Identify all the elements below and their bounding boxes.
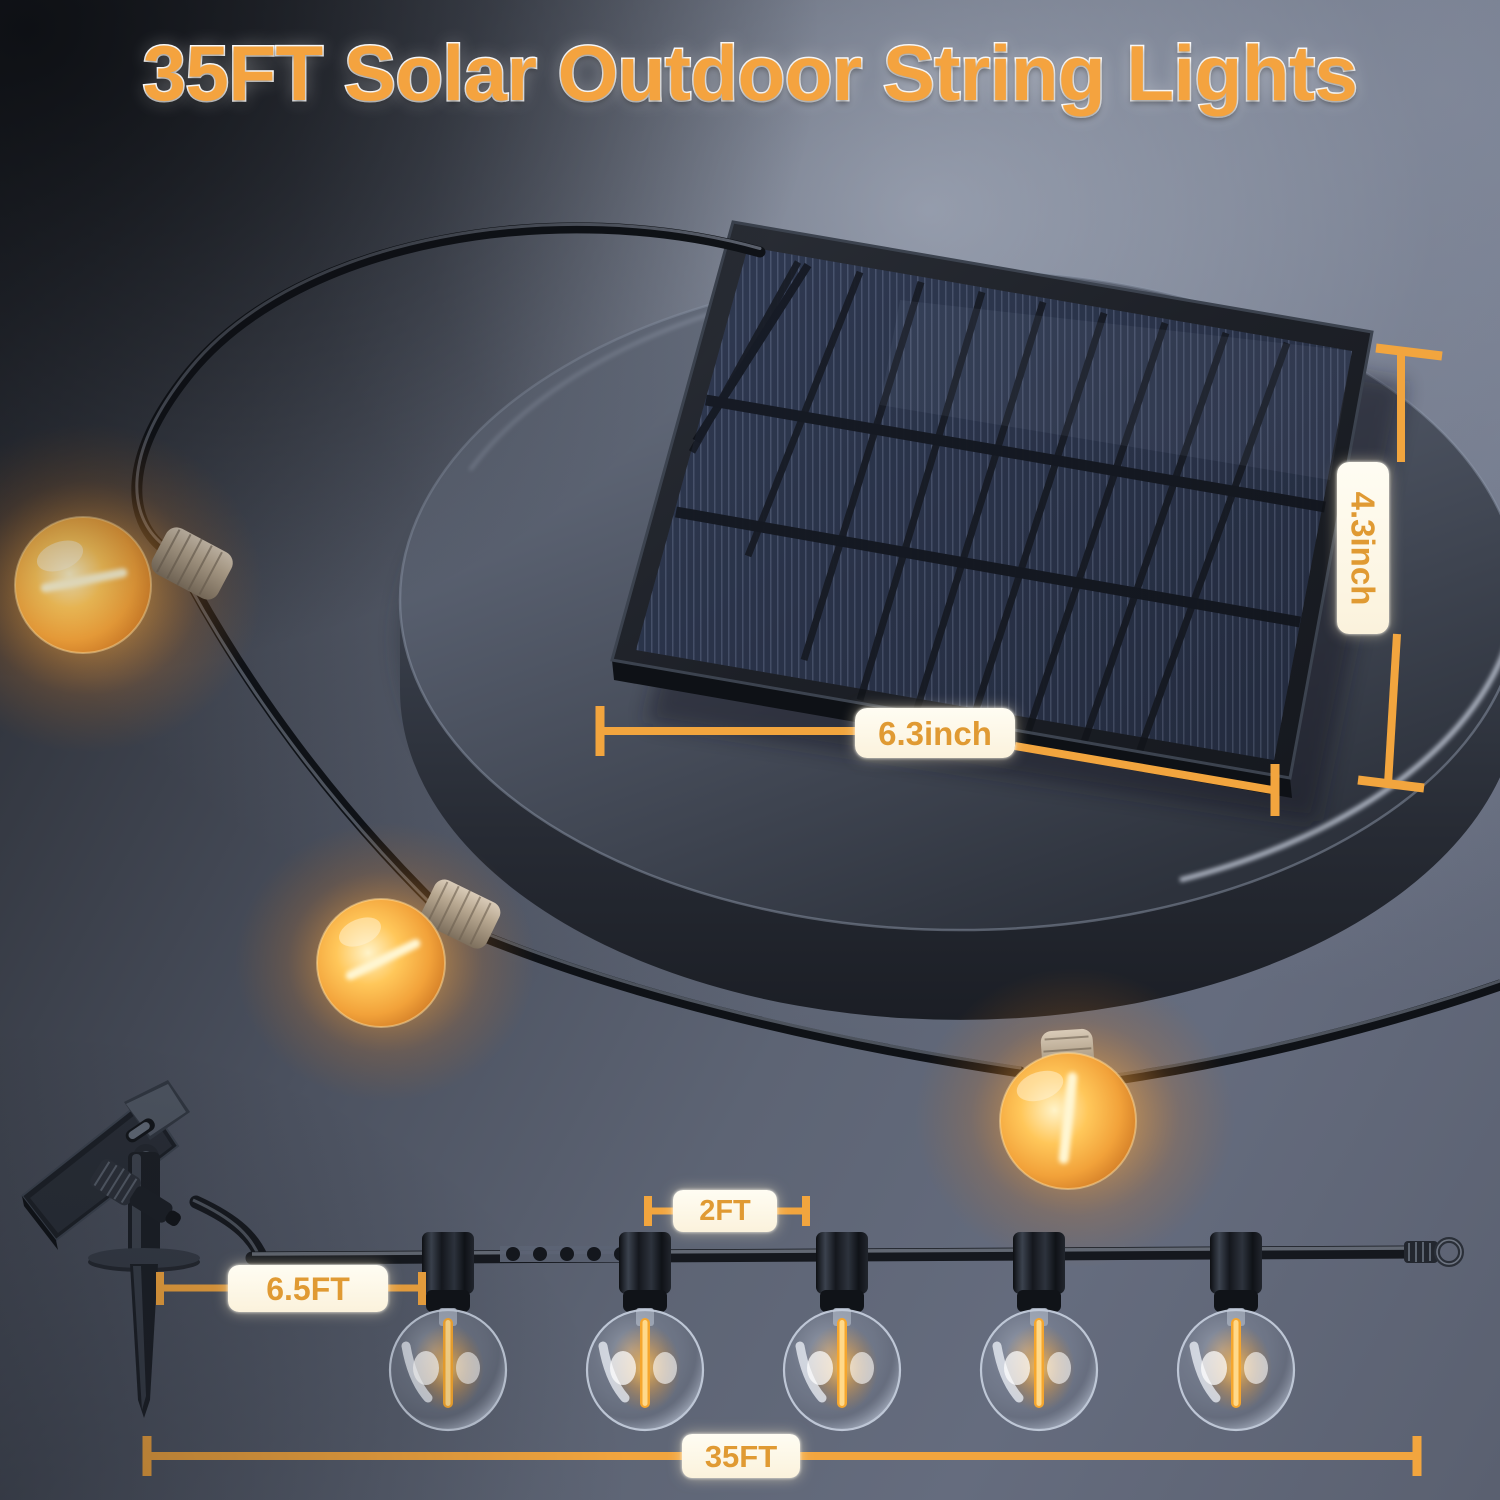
dimension-label-panel-width-text: 6.3inch — [878, 717, 992, 750]
dimension-label-lead-wire-text: 6.5FT — [266, 1273, 350, 1305]
page-title: 35FT Solar Outdoor String Lights — [0, 28, 1500, 119]
product-image-canvas: 35FT Solar Outdoor String Lights 6.3inch… — [0, 0, 1500, 1500]
dimension-label-bulb-spacing-text: 2FT — [699, 1197, 751, 1226]
dimension-label-panel-height: 4.3inch — [1337, 462, 1389, 634]
dimension-label-total-length-text: 35FT — [705, 1441, 777, 1472]
dimension-label-total-length: 35FT — [682, 1434, 800, 1478]
dimension-label-panel-width: 6.3inch — [855, 708, 1015, 758]
dimension-label-panel-height-text: 4.3inch — [1347, 491, 1380, 605]
lit-bulb-3 — [915, 968, 1235, 1268]
solar-stake-fixture — [22, 1080, 262, 1418]
lit-bulb-2 — [235, 822, 535, 1102]
wire-end-connector — [1404, 1240, 1461, 1264]
dimension-label-bulb-spacing: 2FT — [673, 1190, 777, 1232]
lit-bulb-1 — [0, 423, 263, 753]
dimension-label-lead-wire: 6.5FT — [228, 1265, 388, 1312]
scene-illustration — [0, 0, 1500, 1500]
